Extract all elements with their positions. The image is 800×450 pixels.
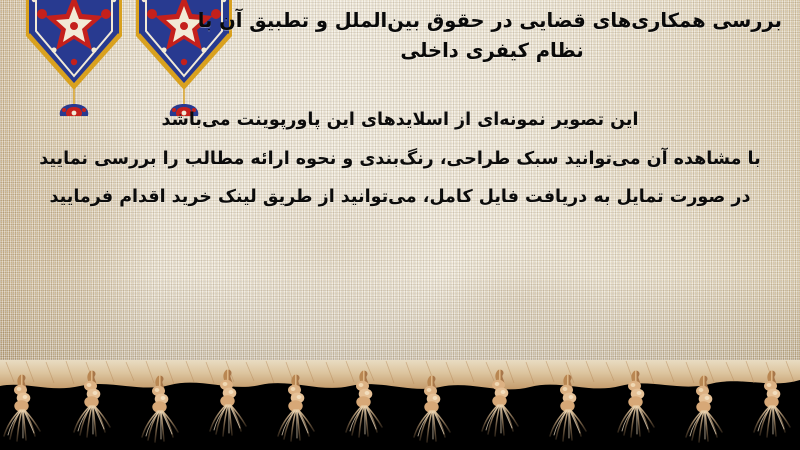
slide-title-line-1: بررسی همکاری‌های قضایی در حقوق بین‌الملل… xyxy=(202,6,782,36)
slide-body-line-2: با مشاهده آن می‌توانید سبک طراحی، رنگ‌بن… xyxy=(0,151,800,169)
slide-body: این تصویر نمونه‌ای از اسلایدهای این پاور… xyxy=(0,112,800,228)
carpet-knotted-fringe xyxy=(0,360,800,450)
fringe-selvedge-band xyxy=(0,360,800,389)
fringe-illustration xyxy=(0,360,800,450)
slide-body-line-3: در صورت تمایل به دریافت فایل کامل، می‌تو… xyxy=(0,189,800,207)
slide-body-line-1: این تصویر نمونه‌ای از اسلایدهای این پاور… xyxy=(0,112,800,130)
slide-title: بررسی همکاری‌های قضایی در حقوق بین‌الملل… xyxy=(202,6,782,65)
slide-canvas: بررسی همکاری‌های قضایی در حقوق بین‌الملل… xyxy=(0,0,800,450)
slide-title-line-2: نظام کیفری داخلی xyxy=(202,36,782,66)
